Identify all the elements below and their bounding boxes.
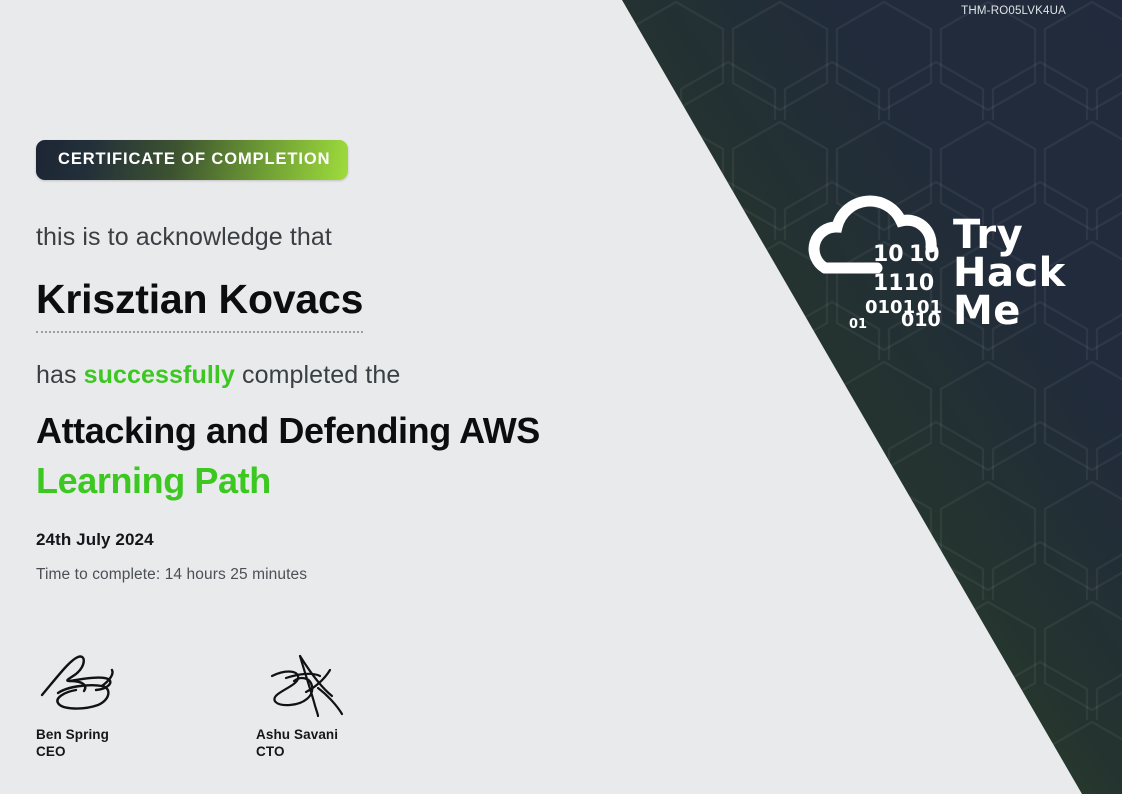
signature-row: Ben Spring CEO Ashu Savani CTO <box>36 648 396 759</box>
signer-name: Ben Spring <box>36 727 176 742</box>
binary-digit: 010 <box>901 309 941 328</box>
recipient-name: Krisztian Kovacs <box>36 276 363 333</box>
binary-digit: 10 <box>873 242 904 267</box>
certificate-id: THM-RO05LVK4UA <box>961 5 1066 17</box>
logo-wordmark: Try Hack Me <box>953 216 1066 330</box>
award-date: 24th July 2024 <box>36 530 696 550</box>
signature-block-ceo: Ben Spring CEO <box>36 648 176 759</box>
course-title-line-2: Learning Path <box>36 456 696 506</box>
logo-wordmark-line-1: Try <box>953 216 1066 254</box>
completion-suffix: completed the <box>242 361 400 389</box>
time-to-complete: Time to complete: 14 hours 25 minutes <box>36 566 696 584</box>
signer-title: CEO <box>36 744 176 759</box>
cloud-binary-icon: 10 10 1110 0101 01 01 010 01 <box>805 188 955 328</box>
logo-wordmark-line-2: Hack <box>953 254 1066 292</box>
signer-name: Ashu Savani <box>256 727 396 742</box>
signature-block-cto: Ashu Savani CTO <box>256 648 396 759</box>
certificate-content: CERTIFICATE OF COMPLETION this is to ack… <box>36 0 696 584</box>
completion-prefix: has <box>36 361 77 389</box>
acknowledge-line: this is to acknowledge that <box>36 223 696 252</box>
binary-digit: 10 <box>909 242 940 267</box>
tryhackme-logo: 10 10 1110 0101 01 01 010 01 Try Hack Me <box>805 188 1085 333</box>
completion-emphasis: successfully <box>84 361 235 389</box>
signer-title: CTO <box>256 744 396 759</box>
completion-line: has successfully completed the <box>36 361 696 390</box>
logo-wordmark-line-3: Me <box>953 292 1066 330</box>
binary-digit: 1110 <box>873 271 934 296</box>
binary-digit: 01 <box>849 317 867 328</box>
signature-mark-ashu-savani <box>256 648 366 720</box>
course-title-line-1: Attacking and Defending AWS <box>36 406 696 456</box>
signature-mark-ben-spring <box>36 648 146 720</box>
certificate-badge: CERTIFICATE OF COMPLETION <box>36 140 348 180</box>
